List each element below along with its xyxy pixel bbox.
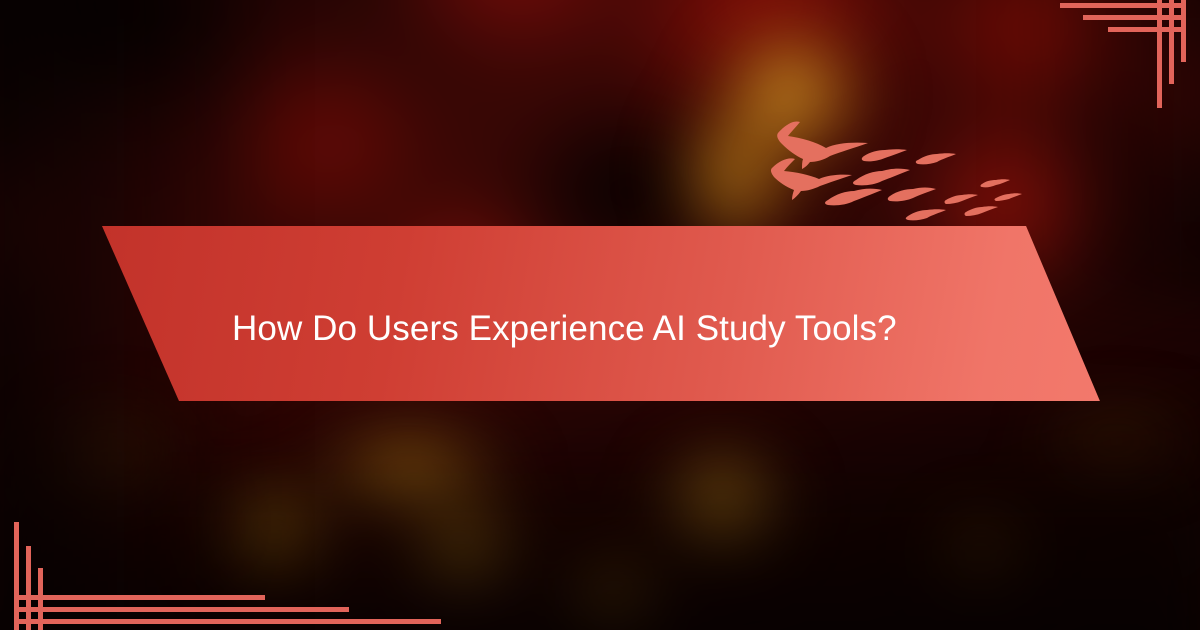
frame-line-vertical-4 <box>14 522 19 630</box>
frame-line-vertical-6 <box>38 568 43 630</box>
share-card-canvas: How Do Users Experience AI Study Tools? <box>0 0 1200 630</box>
frame-line-vertical-2 <box>1169 0 1174 84</box>
frame-line-vertical-3 <box>1181 0 1186 62</box>
frame-line-horizontal-6 <box>18 619 441 624</box>
frame-line-horizontal-1 <box>1060 3 1182 8</box>
birds-flock-icon <box>760 100 1030 245</box>
frame-line-vertical-5 <box>26 546 31 630</box>
frame-line-horizontal-5 <box>18 607 349 612</box>
frame-line-vertical-1 <box>1157 0 1162 108</box>
frame-line-horizontal-2 <box>1083 15 1182 20</box>
frame-line-horizontal-4 <box>18 595 265 600</box>
page-title: How Do Users Experience AI Study Tools? <box>232 307 992 351</box>
